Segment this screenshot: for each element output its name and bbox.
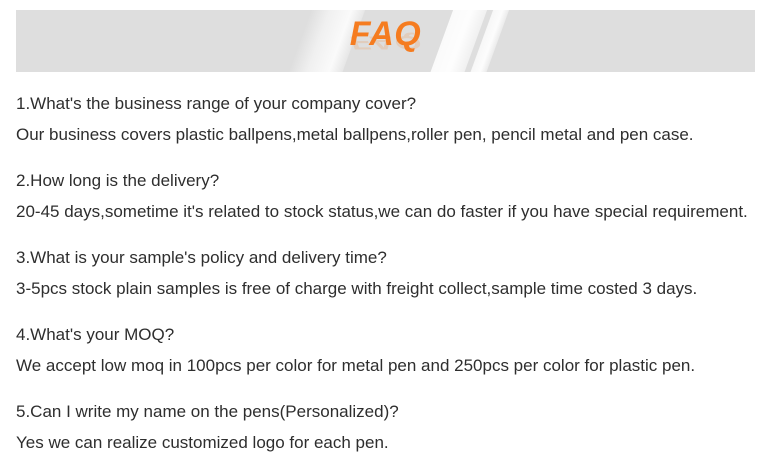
faq-item: 2.How long is the delivery? 20-45 days,s… bbox=[16, 165, 756, 227]
faq-item: 3.What is your sample's policy and deliv… bbox=[16, 242, 756, 304]
faq-page: FAQ FAQ 1.What's the business range of y… bbox=[0, 0, 770, 472]
faq-question: 1.What's the business range of your comp… bbox=[16, 88, 756, 119]
faq-answer: Our business covers plastic ballpens,met… bbox=[16, 119, 756, 150]
faq-item: 4.What's your MOQ? We accept low moq in … bbox=[16, 319, 756, 381]
faq-list: 1.What's the business range of your comp… bbox=[16, 88, 756, 458]
faq-question: 3.What is your sample's policy and deliv… bbox=[16, 242, 756, 273]
faq-item: 1.What's the business range of your comp… bbox=[16, 88, 756, 150]
faq-answer: 20-45 days,sometime it's related to stoc… bbox=[16, 196, 756, 227]
faq-answer: 3-5pcs stock plain samples is free of ch… bbox=[16, 273, 756, 304]
page-title-reflection: FAQ bbox=[16, 33, 755, 52]
faq-question: 5.Can I write my name on the pens(Person… bbox=[16, 396, 756, 427]
faq-question: 4.What's your MOQ? bbox=[16, 319, 756, 350]
faq-question: 2.How long is the delivery? bbox=[16, 165, 756, 196]
faq-item: 5.Can I write my name on the pens(Person… bbox=[16, 396, 756, 458]
faq-title-container: FAQ FAQ bbox=[16, 17, 755, 72]
faq-header-banner: FAQ FAQ bbox=[16, 10, 755, 72]
faq-answer: Yes we can realize customized logo for e… bbox=[16, 427, 756, 458]
faq-answer: We accept low moq in 100pcs per color fo… bbox=[16, 350, 756, 381]
